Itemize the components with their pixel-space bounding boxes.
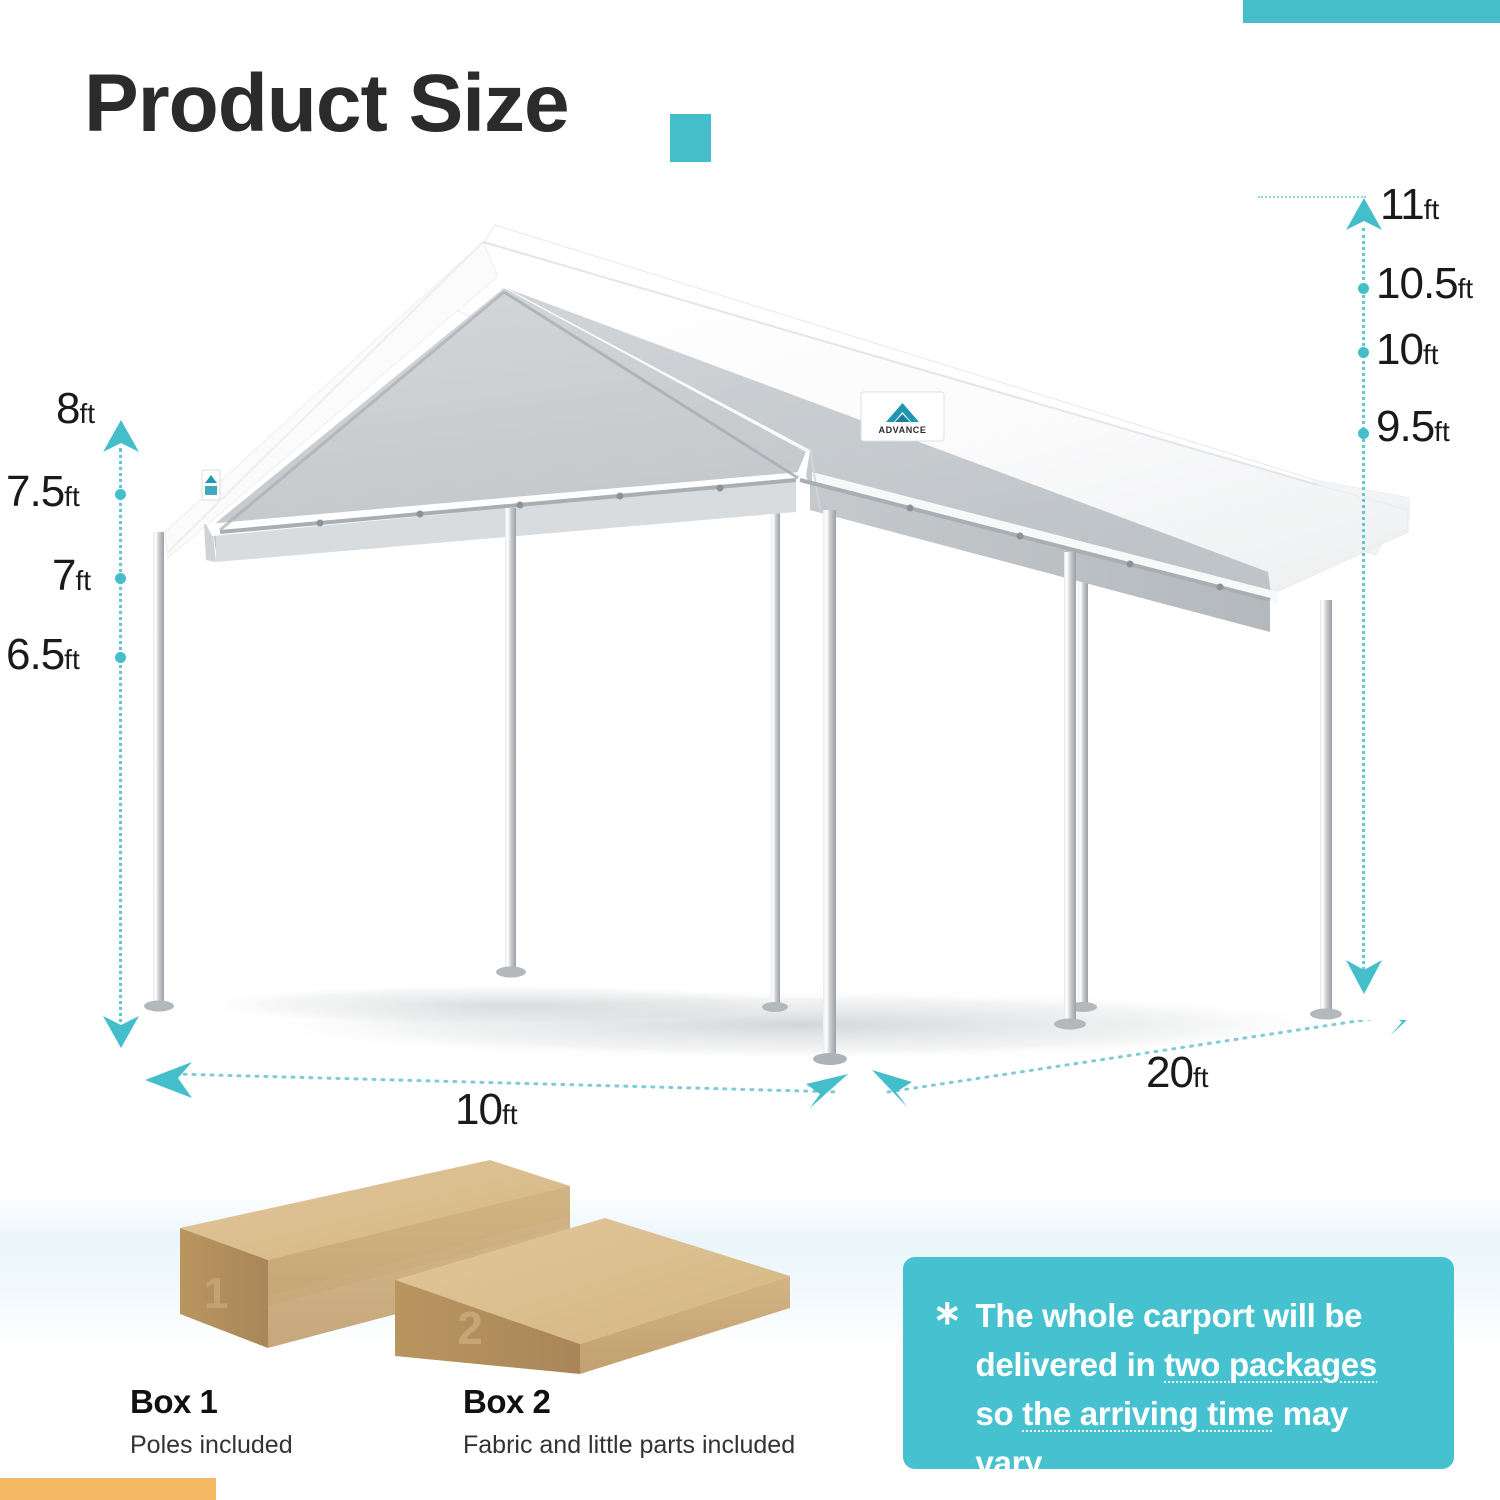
right-dimension-arrow-up — [1344, 196, 1384, 232]
box-1-caption: Box 1 Poles included — [130, 1382, 293, 1462]
brand-logo-patch: ADVANCE — [861, 392, 944, 441]
hang-tag — [202, 470, 220, 500]
box-2-number: 2 — [457, 1302, 483, 1354]
left-tick-dot-2 — [115, 573, 126, 584]
right-height-label-0: 11ft — [1380, 180, 1439, 230]
right-tick-dot-3 — [1358, 428, 1369, 439]
carport-illustration: ADVANCE — [120, 180, 1410, 1070]
right-dimension-arrow-down — [1344, 958, 1384, 996]
right-dimension-line — [1362, 228, 1365, 988]
left-tick-dot-3 — [115, 652, 126, 663]
box-2-subtitle: Fabric and little parts included — [463, 1428, 795, 1462]
note-line1-c: so — [976, 1395, 1023, 1432]
left-height-label-0: 8ft — [56, 384, 95, 434]
shipping-boxes-illustration: 1 2 — [150, 1148, 810, 1378]
box-1-title: Box 1 — [130, 1382, 293, 1422]
note-underline-packages: two packages — [1164, 1346, 1377, 1383]
canopy-roof — [160, 225, 1410, 632]
title-accent-square — [670, 114, 711, 162]
shipping-note-callout: ∗ The whole carport will be delivered in… — [903, 1257, 1454, 1469]
note-text: The whole carport will be delivered in t… — [976, 1291, 1419, 1487]
left-height-label-3: 6.5ft — [6, 630, 80, 680]
page-title: Product Size — [84, 56, 569, 152]
box-1-subtitle: Poles included — [130, 1428, 293, 1462]
left-dimension-line — [119, 448, 122, 1030]
right-height-label-2: 10ft — [1376, 325, 1439, 375]
page-title-wrapper: Product Size — [84, 56, 569, 152]
left-tick-dot-1 — [115, 489, 126, 500]
depth-label: 20ft — [1146, 1048, 1209, 1098]
floor-dimension-lines — [0, 1020, 1500, 1160]
box-2-caption: Box 2 Fabric and little parts included — [463, 1382, 795, 1462]
bottom-left-accent-bar — [0, 1478, 216, 1500]
note-underline-arriving-time: the arriving time — [1022, 1395, 1274, 1432]
width-label: 10ft — [455, 1085, 518, 1135]
box-2-title: Box 2 — [463, 1382, 795, 1422]
left-height-label-2: 7ft — [52, 551, 91, 601]
svg-text:ADVANCE: ADVANCE — [878, 425, 926, 435]
left-height-label-1: 7.5ft — [6, 467, 80, 517]
box-1-number: 1 — [204, 1269, 228, 1318]
infographic-canvas: Product Size — [0, 0, 1500, 1500]
note-asterisk-icon: ∗ — [933, 1291, 962, 1335]
top-right-accent-bar — [1243, 0, 1500, 23]
right-height-label-1: 10.5ft — [1376, 259, 1473, 309]
left-dimension-arrow-up — [101, 418, 141, 454]
right-tick-dot-1 — [1358, 283, 1369, 294]
right-height-label-3: 9.5ft — [1376, 402, 1450, 452]
right-tick-dot-2 — [1358, 347, 1369, 358]
